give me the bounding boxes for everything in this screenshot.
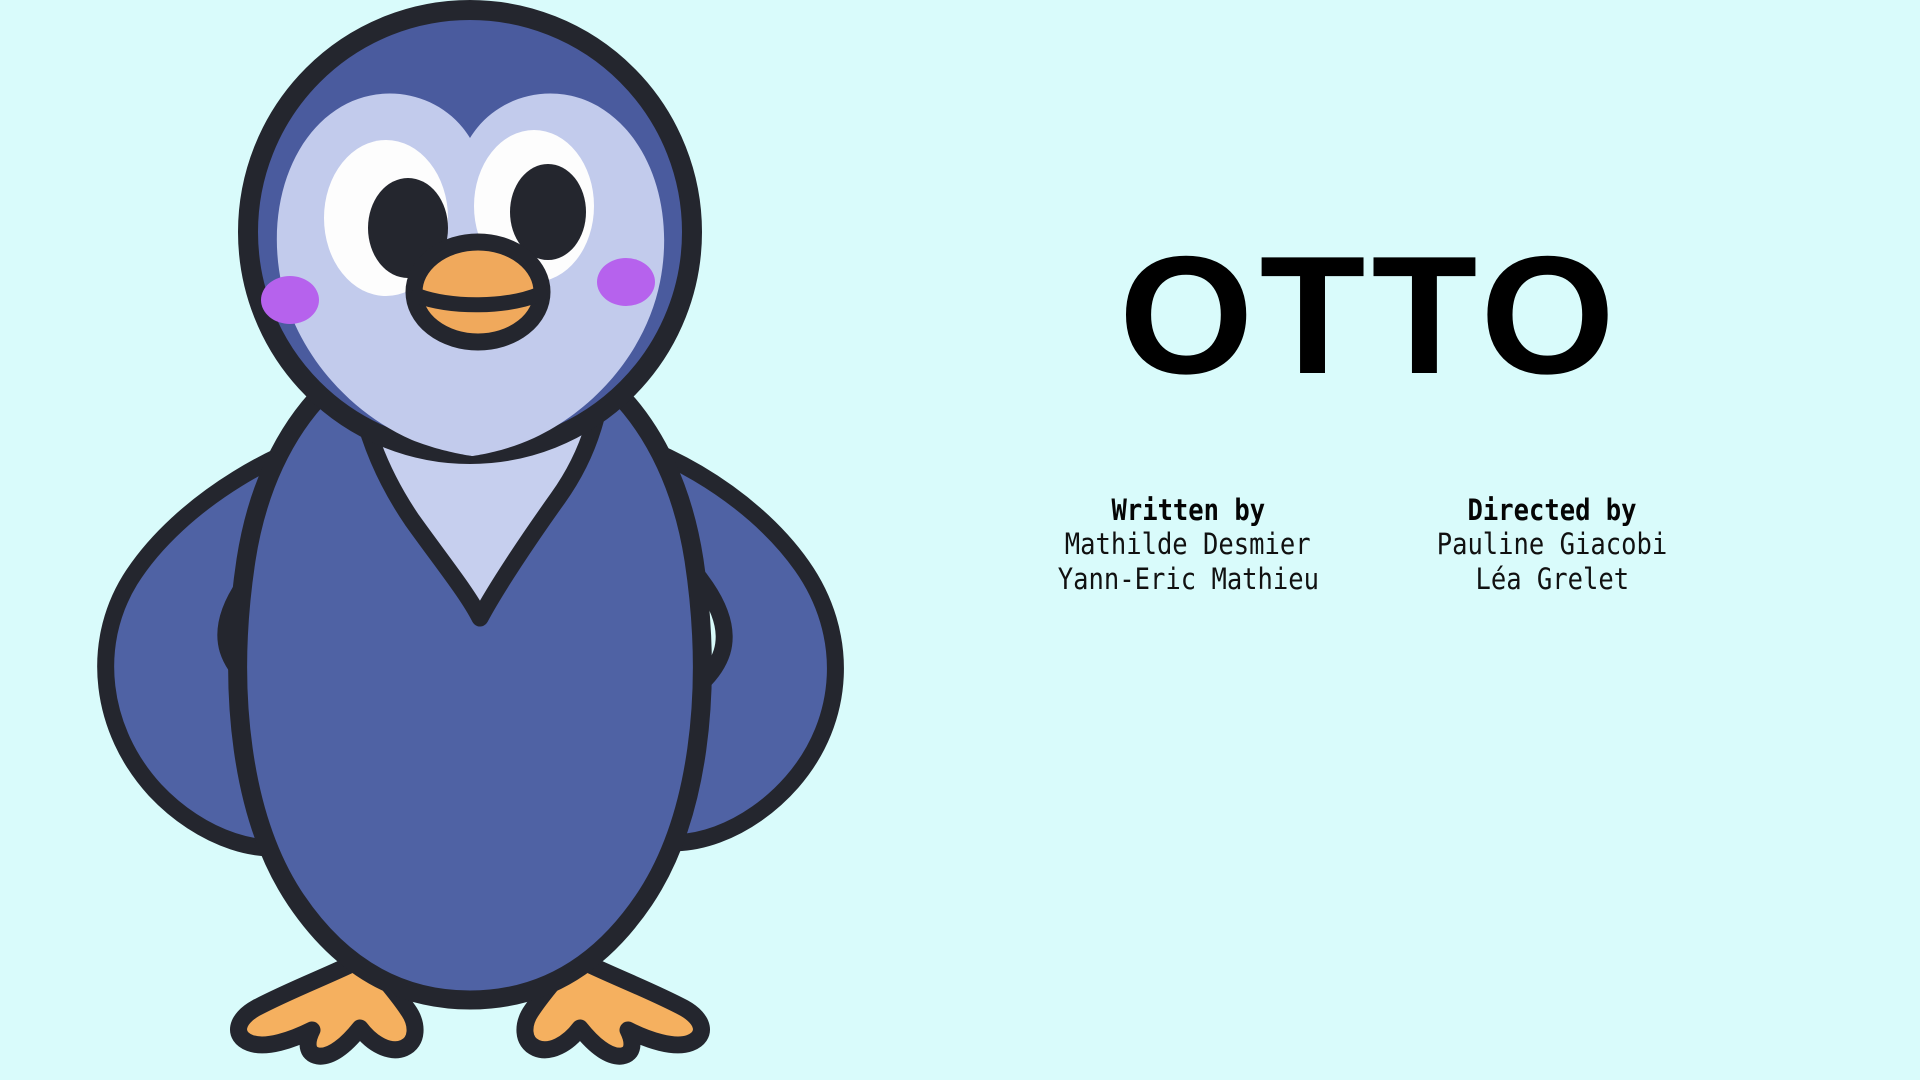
- credit-role-label: Directed by: [1467, 493, 1636, 527]
- title-card-screen: OTTO Written by Mathilde Desmier Yann-Er…: [0, 0, 1920, 1080]
- page-title: OTTO: [927, 238, 1813, 393]
- credit-group-written-by: Written by Mathilde Desmier Yann-Eric Ma…: [1038, 493, 1338, 598]
- credit-role-label: Written by: [1111, 493, 1265, 527]
- otto-penguin-illustration: [60, 0, 880, 1080]
- penguin-left-blush: [261, 276, 319, 324]
- credits-panel: OTTO Written by Mathilde Desmier Yann-Er…: [940, 0, 1800, 1080]
- credit-group-directed-by: Directed by Pauline Giacobi Léa Grelet: [1402, 493, 1702, 598]
- penguin-right-blush: [597, 258, 655, 306]
- credit-name: Léa Grelet: [1475, 562, 1629, 597]
- credit-name: Yann-Eric Mathieu: [1057, 562, 1318, 597]
- credit-name: Pauline Giacobi: [1437, 527, 1667, 562]
- credits-row: Written by Mathilde Desmier Yann-Eric Ma…: [940, 493, 1800, 598]
- credit-name: Mathilde Desmier: [1065, 527, 1311, 562]
- title-block: OTTO: [940, 238, 1800, 393]
